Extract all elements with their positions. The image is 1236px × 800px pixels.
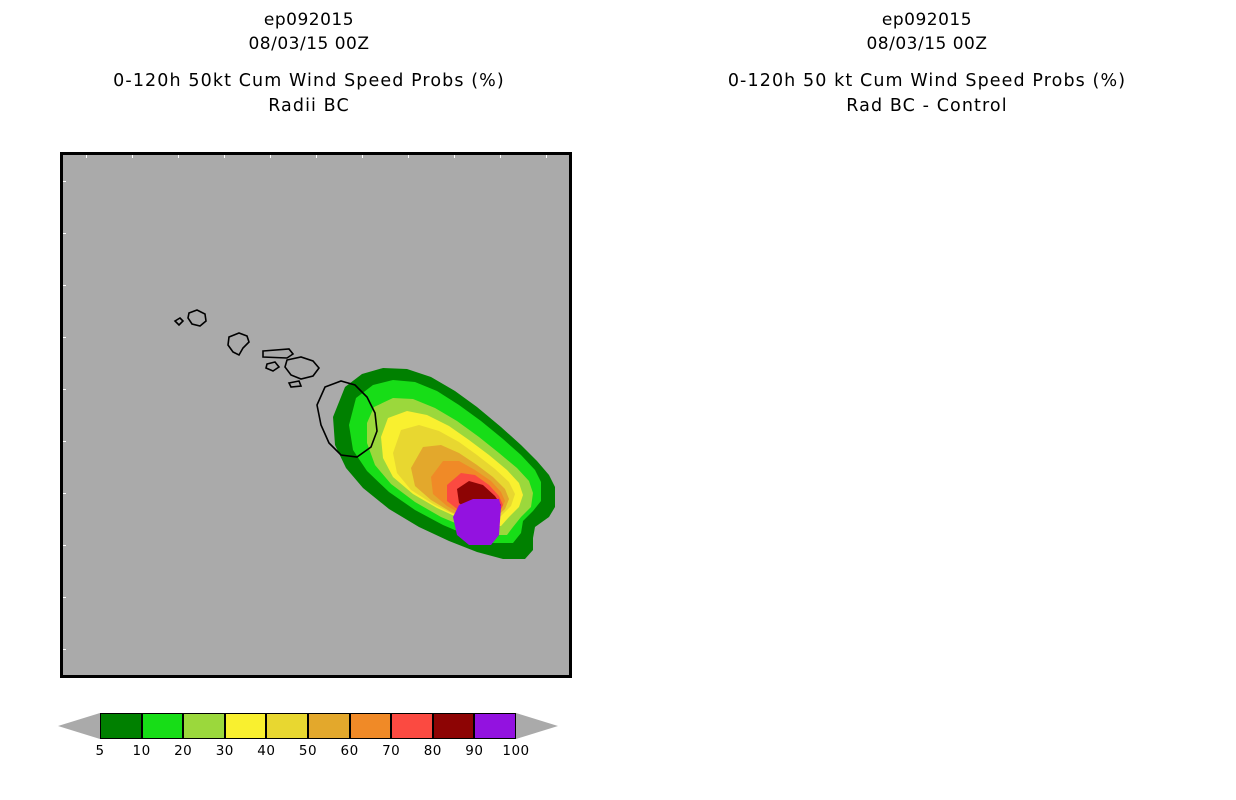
coast-molokai	[263, 349, 293, 358]
x-tick-mark	[132, 675, 133, 678]
x-tick-mark	[86, 675, 87, 678]
right-datetime: 08/03/15 00Z	[618, 32, 1236, 56]
x-tick-mark	[362, 675, 363, 678]
x-tick-mark	[500, 675, 501, 678]
y-tick-label: 20N	[60, 382, 63, 396]
colorbar-tick-label: 90	[465, 743, 483, 759]
colorbar-cap-under	[58, 713, 100, 739]
coast-kauai	[188, 310, 206, 326]
colorbar-tick-label: 40	[257, 743, 275, 759]
right-panel-titles: ep092015 08/03/15 00Z 0-120h 50 kt Cum W…	[618, 0, 1236, 118]
left-subtitle-sub: Radii BC	[0, 94, 618, 118]
colorbar-tick-label: 5	[95, 743, 104, 759]
colorbar-swatch[interactable]	[266, 713, 308, 739]
x-tick-mark	[316, 675, 317, 678]
colorbar-tick-label: 60	[341, 743, 359, 759]
coast-maui	[285, 357, 319, 379]
colorbar-tick-label: 80	[424, 743, 442, 759]
right-subtitle-main: 0-120h 50 kt Cum Wind Speed Probs (%)	[618, 69, 1236, 93]
y-tick-label: 24N	[60, 278, 63, 292]
right-storm-id: ep092015	[618, 8, 1236, 32]
x-tick-mark	[224, 675, 225, 678]
x-tick-mark	[270, 675, 271, 678]
left-panel-titles: ep092015 08/03/15 00Z 0-120h 50kt Cum Wi…	[0, 0, 618, 118]
left-contour-map	[63, 155, 569, 675]
colorbar-swatch[interactable]	[100, 713, 142, 739]
y-tick-label: 14N	[60, 538, 63, 552]
y-tick-label: 18N	[60, 434, 63, 448]
x-tick-mark	[178, 675, 179, 678]
right-subtitle-sub: Rad BC - Control	[618, 94, 1236, 118]
y-tick-label: 28N	[60, 174, 63, 188]
panel-left: ep092015 08/03/15 00Z 0-120h 50kt Cum Wi…	[0, 0, 618, 800]
left-datetime: 08/03/15 00Z	[0, 32, 618, 56]
colorbar-tick-label: 30	[216, 743, 234, 759]
colorbar-swatch[interactable]	[433, 713, 475, 739]
y-tick-label: 22N	[60, 330, 63, 344]
colorbar-tick-label: 100	[502, 743, 529, 759]
colorbar-tick-label: 50	[299, 743, 317, 759]
x-tick-mark	[408, 675, 409, 678]
colorbar-swatch[interactable]	[308, 713, 350, 739]
colorbar-swatch[interactable]	[225, 713, 267, 739]
colorbar-swatch[interactable]	[183, 713, 225, 739]
coast-nihoa	[175, 318, 183, 325]
colorbar-tick-label: 20	[174, 743, 192, 759]
colorbar-swatch[interactable]	[142, 713, 184, 739]
coast-lanai	[266, 362, 279, 371]
x-tick-mark	[454, 675, 455, 678]
left-colorbar[interactable]: 5102030405060708090100	[58, 713, 558, 739]
colorbar-tick-label: 10	[133, 743, 151, 759]
panel-right: ep092015 08/03/15 00Z 0-120h 50 kt Cum W…	[618, 0, 1236, 800]
colorbar-swatch[interactable]	[350, 713, 392, 739]
left-map-frame: 10N12N14N16N18N20N22N24N26N28N164W162W16…	[60, 152, 572, 678]
colorbar-swatch[interactable]	[391, 713, 433, 739]
y-tick-label: 12N	[60, 590, 63, 604]
y-tick-label: 26N	[60, 226, 63, 240]
colorbar-cap-over	[516, 713, 558, 739]
x-tick-mark	[546, 675, 547, 678]
coast-oahu	[228, 333, 249, 355]
y-tick-label: 10N	[60, 642, 63, 656]
coast-kahoolawe	[289, 381, 301, 387]
left-storm-id: ep092015	[0, 8, 618, 32]
colorbar-swatch[interactable]	[474, 713, 516, 739]
left-subtitle-main: 0-120h 50kt Cum Wind Speed Probs (%)	[0, 69, 618, 93]
colorbar-tick-label: 70	[382, 743, 400, 759]
y-tick-label: 16N	[60, 486, 63, 500]
